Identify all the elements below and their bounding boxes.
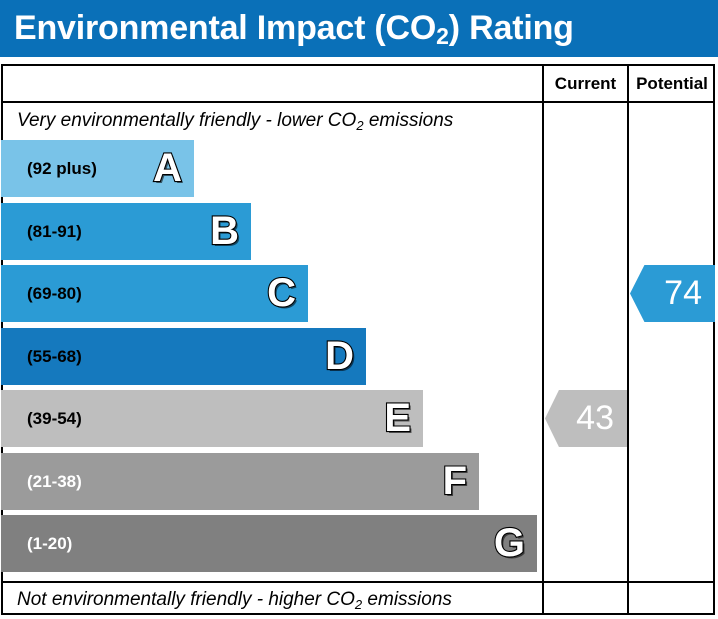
column-header-current: Current xyxy=(544,66,627,101)
caption-bottom-prefix: Not environmentally friendly - higher CO xyxy=(17,589,355,610)
rating-band-c: (69-80)C xyxy=(1,265,308,322)
band-letter-f: F xyxy=(443,453,467,510)
band-letter-b: B xyxy=(210,203,239,260)
header-row-divider xyxy=(1,101,715,103)
band-letter-c: C xyxy=(267,265,296,322)
rating-band-g: (1-20)G xyxy=(1,515,537,572)
rating-band-f: (21-38)F xyxy=(1,453,479,510)
band-letter-a: A xyxy=(153,140,182,197)
caption-top: Very environmentally friendly - lower CO… xyxy=(17,110,453,132)
band-range-label-d: (55-68) xyxy=(27,328,82,385)
page-title: Environmental Impact (CO2) Rating xyxy=(14,6,574,53)
caption-bottom: Not environmentally friendly - higher CO… xyxy=(17,589,452,611)
column-divider-potential xyxy=(627,64,629,615)
band-range-label-a: (92 plus) xyxy=(27,140,97,197)
rating-value-current: 43 xyxy=(576,390,614,447)
rating-band-b: (81-91)B xyxy=(1,203,251,260)
column-header-potential: Potential xyxy=(629,66,715,101)
rating-arrow-potential: 74 xyxy=(630,265,715,322)
band-range-label-e: (39-54) xyxy=(27,390,82,447)
caption-top-suffix: emissions xyxy=(364,110,454,131)
band-letter-e: E xyxy=(384,390,411,447)
page-title-suffix: ) Rating xyxy=(449,9,574,47)
band-letter-g: G xyxy=(494,515,525,572)
epc-environmental-impact-chart: Environmental Impact (CO2) Rating Curren… xyxy=(0,0,718,619)
rating-value-potential: 74 xyxy=(664,265,702,322)
rating-band-e: (39-54)E xyxy=(1,390,423,447)
caption-bottom-suffix: emissions xyxy=(362,589,452,610)
band-range-label-b: (81-91) xyxy=(27,203,82,260)
band-range-label-f: (21-38) xyxy=(27,453,82,510)
page-title-subscript: 2 xyxy=(436,23,449,49)
rating-band-d: (55-68)D xyxy=(1,328,366,385)
rating-band-a: (92 plus)A xyxy=(1,140,194,197)
caption-top-subscript: 2 xyxy=(356,118,363,133)
column-divider-current xyxy=(542,64,544,615)
band-letter-d: D xyxy=(325,328,354,385)
caption-top-prefix: Very environmentally friendly - lower CO xyxy=(17,110,356,131)
band-range-label-c: (69-80) xyxy=(27,265,82,322)
footer-row-divider xyxy=(1,581,715,583)
caption-bottom-subscript: 2 xyxy=(355,597,362,612)
band-range-label-g: (1-20) xyxy=(27,515,72,572)
chart-title-bar: Environmental Impact (CO2) Rating xyxy=(0,0,718,57)
page-title-prefix: Environmental Impact (CO xyxy=(14,9,436,47)
rating-arrow-current: 43 xyxy=(545,390,627,447)
